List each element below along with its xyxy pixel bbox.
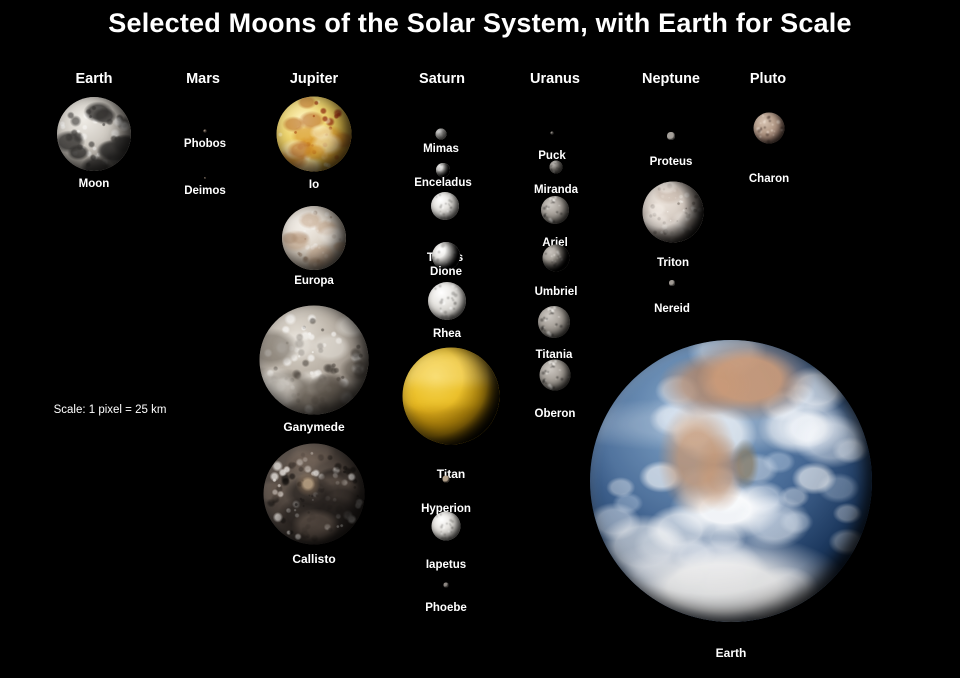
callisto-disc[interactable] — [264, 444, 365, 545]
proteus-disc[interactable] — [667, 132, 675, 140]
callisto-limb-shading — [264, 444, 365, 545]
iapetus-disc[interactable] — [432, 512, 461, 541]
earth-disc[interactable] — [590, 340, 872, 622]
moon-disc[interactable] — [57, 97, 131, 171]
oberon-limb-shading — [540, 360, 571, 391]
rhea-limb-shading — [428, 282, 466, 320]
miranda-disc[interactable] — [550, 161, 563, 174]
iapetus-label: Iapetus — [426, 559, 466, 571]
page-title: Selected Moons of the Solar System, with… — [0, 8, 960, 39]
miranda-label: Miranda — [534, 184, 578, 196]
charon-limb-shading — [754, 113, 785, 144]
phoebe-disc[interactable] — [444, 583, 449, 588]
mimas-label: Mimas — [423, 143, 459, 155]
phobos-disc[interactable] — [204, 130, 207, 133]
charon-disc[interactable] — [754, 113, 785, 144]
nereid-label: Nereid — [654, 303, 690, 315]
earth-label: Earth — [716, 646, 747, 660]
earth-atmosphere-shading — [590, 340, 872, 622]
oberon-disc[interactable] — [540, 360, 571, 391]
europa-disc[interactable] — [282, 206, 346, 270]
scale-note: Scale: 1 pixel = 25 km — [54, 404, 167, 416]
poster-canvas: Selected Moons of the Solar System, with… — [0, 0, 960, 678]
mimas-limb-shading — [436, 129, 447, 140]
triton-disc[interactable] — [643, 182, 704, 243]
rhea-label: Rhea — [433, 328, 461, 340]
dione-disc[interactable] — [432, 242, 460, 270]
oberon-label: Oberon — [535, 408, 576, 420]
europa-limb-shading — [282, 206, 346, 270]
rhea-disc[interactable] — [428, 282, 466, 320]
body-earth[interactable]: Earth — [0, 0, 960, 678]
titan-disc[interactable] — [403, 348, 500, 445]
proteus-label: Proteus — [650, 156, 693, 168]
titan-terminator — [403, 348, 500, 445]
column-header-jupiter: Jupiter — [290, 71, 338, 87]
ganymede-disc[interactable] — [260, 306, 369, 415]
umbriel-disc[interactable] — [543, 245, 570, 272]
enceladus-disc[interactable] — [436, 163, 450, 177]
enceladus-label: Enceladus — [414, 177, 472, 189]
moon-label: Moon — [79, 178, 110, 190]
tethys-disc[interactable] — [431, 192, 459, 220]
column-header-uranus: Uranus — [530, 71, 580, 87]
puck-label: Puck — [538, 150, 566, 162]
column-header-earth: Earth — [75, 71, 112, 87]
umbriel-terminator — [543, 245, 570, 272]
ariel-disc[interactable] — [541, 196, 569, 224]
titan-label: Titan — [437, 467, 465, 481]
triton-terminator — [643, 182, 704, 243]
miranda-limb-shading — [550, 161, 563, 174]
tethys-limb-shading — [431, 192, 459, 220]
puck-disc[interactable] — [551, 132, 554, 135]
triton-label: Triton — [657, 257, 689, 269]
deimos-disc[interactable] — [204, 177, 206, 179]
ganymede-limb-shading — [260, 306, 369, 415]
charon-label: Charon — [749, 173, 789, 185]
column-header-neptune: Neptune — [642, 71, 700, 87]
enceladus-terminator — [436, 163, 450, 177]
mimas-disc[interactable] — [436, 129, 447, 140]
column-header-saturn: Saturn — [419, 71, 465, 87]
ariel-limb-shading — [541, 196, 569, 224]
titania-disc[interactable] — [538, 306, 570, 338]
umbriel-label: Umbriel — [535, 286, 578, 298]
io-disc[interactable] — [277, 97, 352, 172]
ganymede-label: Ganymede — [283, 420, 344, 434]
titania-limb-shading — [538, 306, 570, 338]
column-header-mars: Mars — [186, 71, 220, 87]
deimos-label: Deimos — [184, 185, 226, 197]
io-label: Io — [309, 179, 319, 191]
iapetus-limb-shading — [432, 512, 461, 541]
io-limb-shading — [277, 97, 352, 172]
dione-terminator — [432, 242, 460, 270]
phoebe-label: Phoebe — [425, 602, 467, 614]
phobos-label: Phobos — [184, 138, 226, 150]
moon-limb-shading — [57, 97, 131, 171]
nereid-disc[interactable] — [669, 280, 675, 286]
hyperion-disc[interactable] — [443, 476, 450, 483]
callisto-label: Callisto — [292, 552, 335, 566]
column-header-pluto: Pluto — [750, 71, 786, 87]
europa-label: Europa — [294, 275, 334, 287]
